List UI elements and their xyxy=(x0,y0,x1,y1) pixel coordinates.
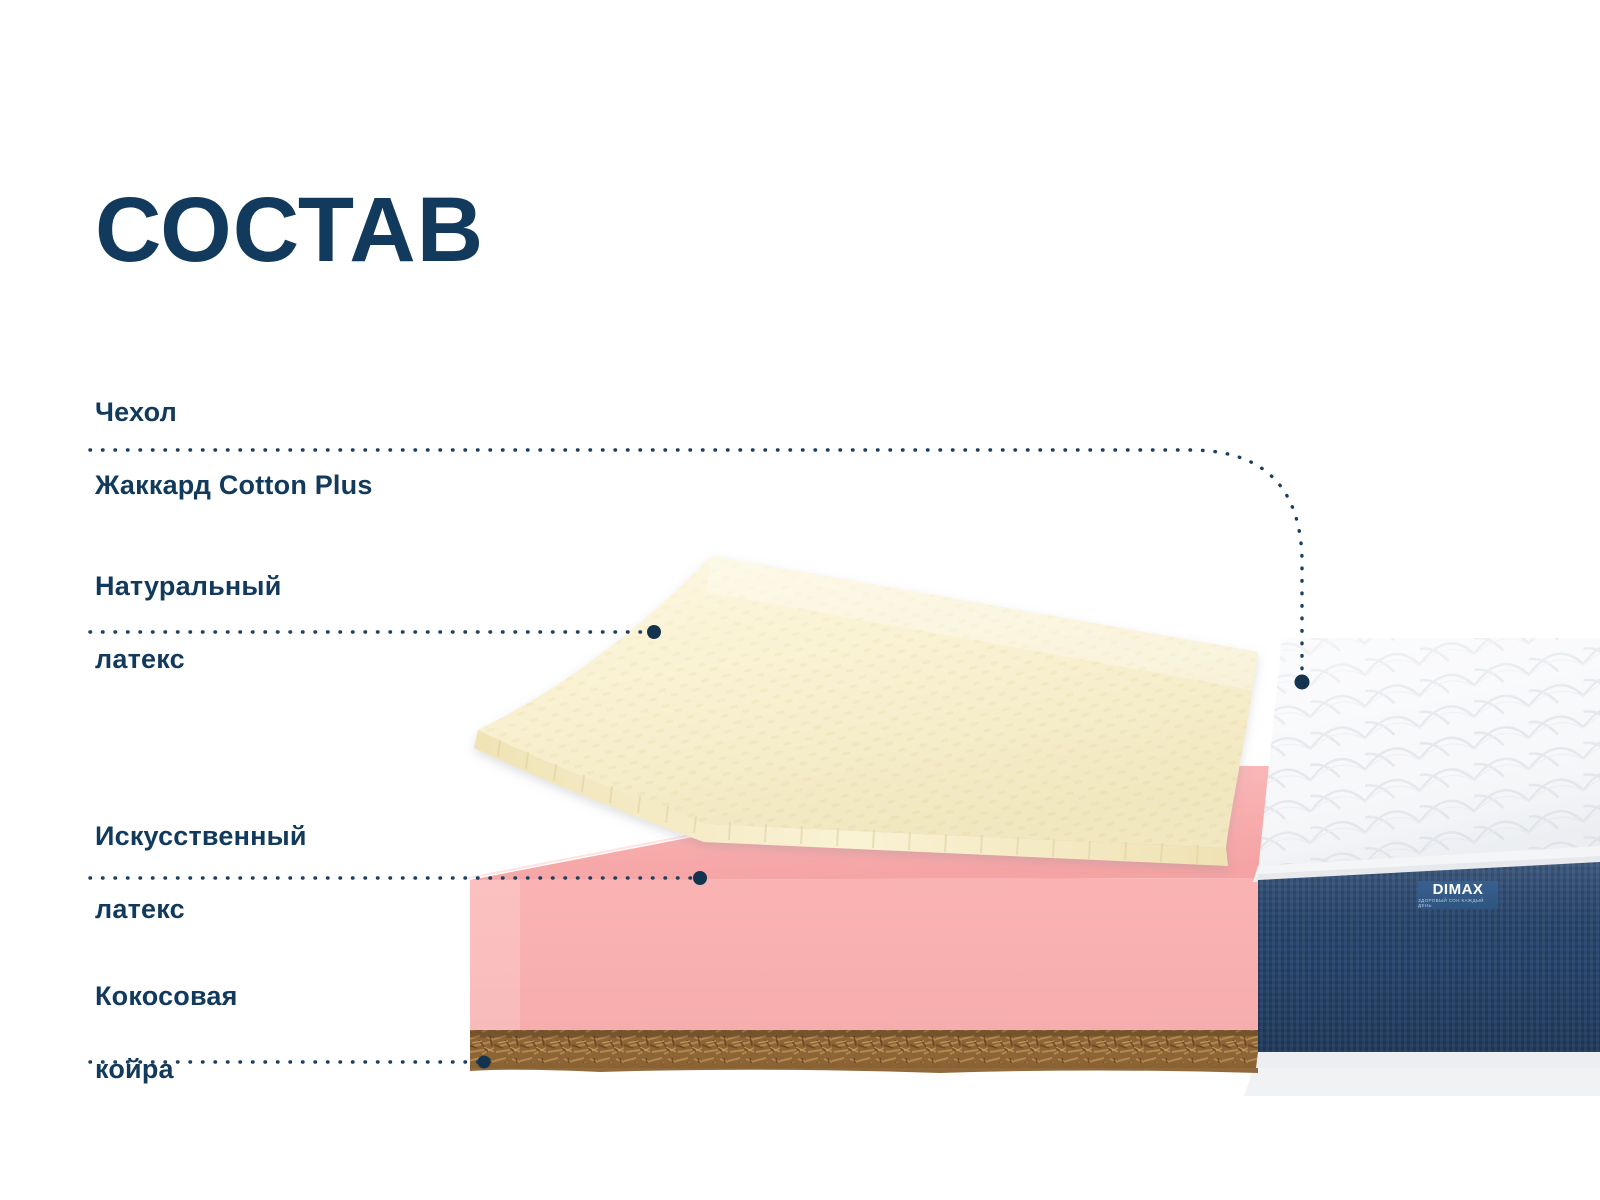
leader-dot-artificial xyxy=(693,871,707,885)
layer-coconut-coir xyxy=(470,1028,1258,1073)
layer-label-natural-line1: Натуральный xyxy=(95,568,282,604)
layer-label-natural-latex: Натуральный латекс xyxy=(95,532,282,714)
layer-cover xyxy=(1253,638,1600,882)
layer-label-coir-line2: койра xyxy=(95,1051,238,1087)
leader-dot-natural xyxy=(647,625,661,639)
dimax-brand-label: DIMAX ЗДОРОВЫЙ СОН КАЖДЫЙ ДЕНЬ xyxy=(1418,881,1498,909)
composition-infographic: СОСТАВ Чехол Жаккард Cotton Plus Натурал… xyxy=(0,0,1600,1200)
layer-label-cover-line2: Жаккард Cotton Plus xyxy=(95,467,373,503)
layer-label-coir-line1: Кокосовая xyxy=(95,978,238,1014)
layer-label-coconut-coir: Кокосовая койра xyxy=(95,942,238,1124)
layer-label-cover-line1: Чехол xyxy=(95,394,373,430)
page-title: СОСТАВ xyxy=(95,184,484,276)
leader-end-dots xyxy=(478,625,1310,1069)
layer-label-artificial-line2: латекс xyxy=(95,891,307,927)
dimax-brand-name: DIMAX xyxy=(1433,882,1484,897)
dimax-brand-tagline: ЗДОРОВЫЙ СОН КАЖДЫЙ ДЕНЬ xyxy=(1418,899,1498,908)
layer-label-cover: Чехол Жаккард Cotton Plus xyxy=(95,358,373,540)
leader-dot-cover xyxy=(1295,675,1310,690)
layer-natural-latex xyxy=(474,556,1258,866)
layer-label-artificial-latex: Искусственный латекс xyxy=(95,782,307,964)
layer-label-natural-line2: латекс xyxy=(95,641,282,677)
mattress-base xyxy=(1244,1055,1600,1096)
layer-label-artificial-line1: Искусственный xyxy=(95,818,307,854)
leader-dot-coir xyxy=(478,1056,491,1069)
